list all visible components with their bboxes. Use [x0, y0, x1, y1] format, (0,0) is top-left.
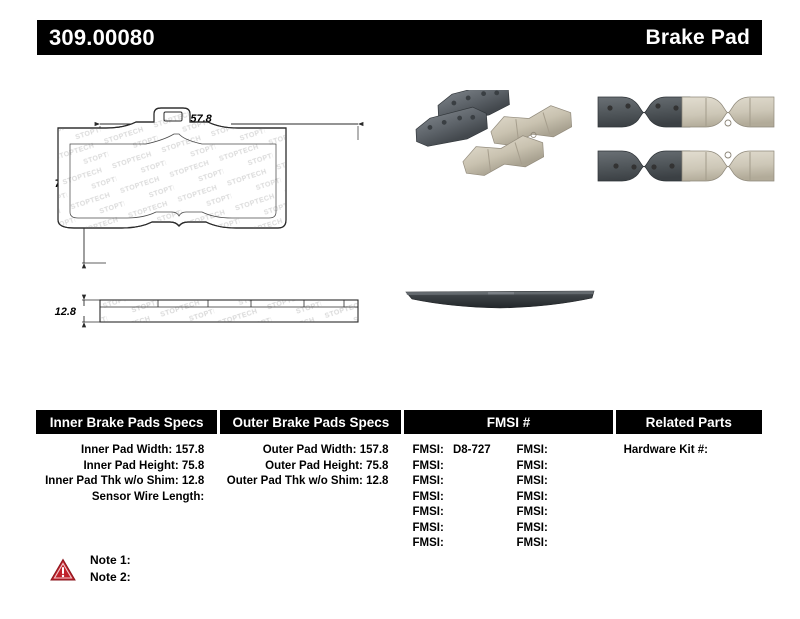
fmsi-row: FMSI: — [509, 443, 613, 459]
fmsi-row: FMSI: — [509, 521, 613, 537]
related-part-row: Hardware Kit #: — [616, 443, 762, 459]
photo-pad-set-grid — [596, 85, 776, 197]
table-body: Inner Pad Width: 157.8 Inner Pad Height:… — [36, 434, 762, 552]
outer-specs-column: Outer Pad Width: 157.8 Outer Pad Height:… — [220, 443, 401, 552]
note-list: Note 1: Note 2: — [90, 552, 131, 586]
product-photos — [400, 82, 775, 332]
technical-drawing: STOPTECH STOPTECH 157.8 — [36, 100, 381, 340]
note-line: Note 1: — [90, 552, 131, 569]
fmsi-label: FMSI: — [517, 537, 548, 549]
fmsi-row: FMSI: — [509, 474, 613, 490]
pad-friction-face — [682, 97, 774, 127]
fmsi-label: FMSI: — [517, 506, 548, 518]
spec-row: Inner Pad Width: 157.8 — [36, 443, 217, 459]
fmsi-label: FMSI: — [517, 491, 548, 503]
column-header-outer-specs: Outer Brake Pads Specs — [220, 410, 401, 434]
fmsi-row: FMSI: — [509, 536, 613, 552]
specifications-table: Inner Brake Pads Specs Outer Brake Pads … — [36, 410, 762, 552]
fmsi-row: FMSI: — [404, 459, 508, 475]
fmsi-label: FMSI: — [517, 444, 548, 456]
spec-row: Outer Pad Thk w/o Shim: 12.8 — [220, 474, 401, 490]
part-number: 309.00080 — [49, 25, 155, 51]
related-parts-column: Hardware Kit #: — [616, 443, 762, 552]
photo-pad-edge-view — [400, 282, 600, 322]
fmsi-label: FMSI: — [412, 491, 443, 503]
spec-row: Outer Pad Height: 75.8 — [220, 459, 401, 475]
column-header-inner-specs: Inner Brake Pads Specs — [36, 410, 217, 434]
spec-row: Inner Pad Thk w/o Shim: 12.8 — [36, 474, 217, 490]
fmsi-label: FMSI: — [412, 475, 443, 487]
product-name: Brake Pad — [645, 26, 750, 50]
spec-row: Outer Pad Width: 157.8 — [220, 443, 401, 459]
column-header-related-parts: Related Parts — [616, 410, 762, 434]
fmsi-row: FMSI: — [404, 521, 508, 537]
fmsi-label: FMSI: — [412, 506, 443, 518]
fmsi-row: FMSI: — [509, 459, 613, 475]
fmsi-value: D8-727 — [453, 444, 491, 456]
fmsi-row: FMSI: — [509, 490, 613, 506]
pad-backing-plate — [598, 151, 690, 181]
fmsi-column: FMSI: D8-727 FMSI: FMSI: FMSI: — [404, 443, 612, 552]
pad-side-view — [100, 300, 358, 322]
fmsi-row: FMSI: — [509, 505, 613, 521]
fmsi-row: FMSI: D8-727 — [404, 443, 508, 459]
fmsi-label: FMSI: — [517, 460, 548, 472]
pad-friction-face — [682, 151, 774, 181]
photo-pad-set-angled — [410, 90, 590, 195]
fmsi-label: FMSI: — [412, 522, 443, 534]
fmsi-subcolumn-left: FMSI: D8-727 FMSI: FMSI: FMSI: — [404, 443, 508, 552]
fmsi-row: FMSI: — [404, 490, 508, 506]
fmsi-label: FMSI: — [517, 475, 548, 487]
fmsi-row: FMSI: — [404, 536, 508, 552]
table-header-row: Inner Brake Pads Specs Outer Brake Pads … — [36, 410, 762, 434]
fmsi-label: FMSI: — [517, 522, 548, 534]
warning-triangle-icon — [50, 558, 76, 582]
dimension-thickness-label: 12.8 — [55, 306, 77, 318]
fmsi-row: FMSI: — [404, 505, 508, 521]
fmsi-label: FMSI: — [412, 444, 443, 456]
title-bar: 309.00080 Brake Pad — [37, 20, 762, 55]
fmsi-subcolumn-right: FMSI: FMSI: FMSI: FMSI: — [509, 443, 613, 552]
note-line: Note 2: — [90, 569, 131, 586]
column-header-fmsi: FMSI # — [404, 410, 612, 434]
inner-specs-column: Inner Pad Width: 157.8 Inner Pad Height:… — [36, 443, 217, 552]
spec-row: Inner Pad Height: 75.8 — [36, 459, 217, 475]
product-spec-sheet: 309.00080 Brake Pad STOPTECH STOPTECH — [0, 0, 800, 619]
fmsi-row: FMSI: — [404, 474, 508, 490]
spec-row: Sensor Wire Length: — [36, 490, 217, 506]
fmsi-label: FMSI: — [412, 460, 443, 472]
notes-section: Note 1: Note 2: — [50, 552, 131, 586]
fmsi-label: FMSI: — [412, 537, 443, 549]
pad-backing-plate — [598, 97, 690, 127]
